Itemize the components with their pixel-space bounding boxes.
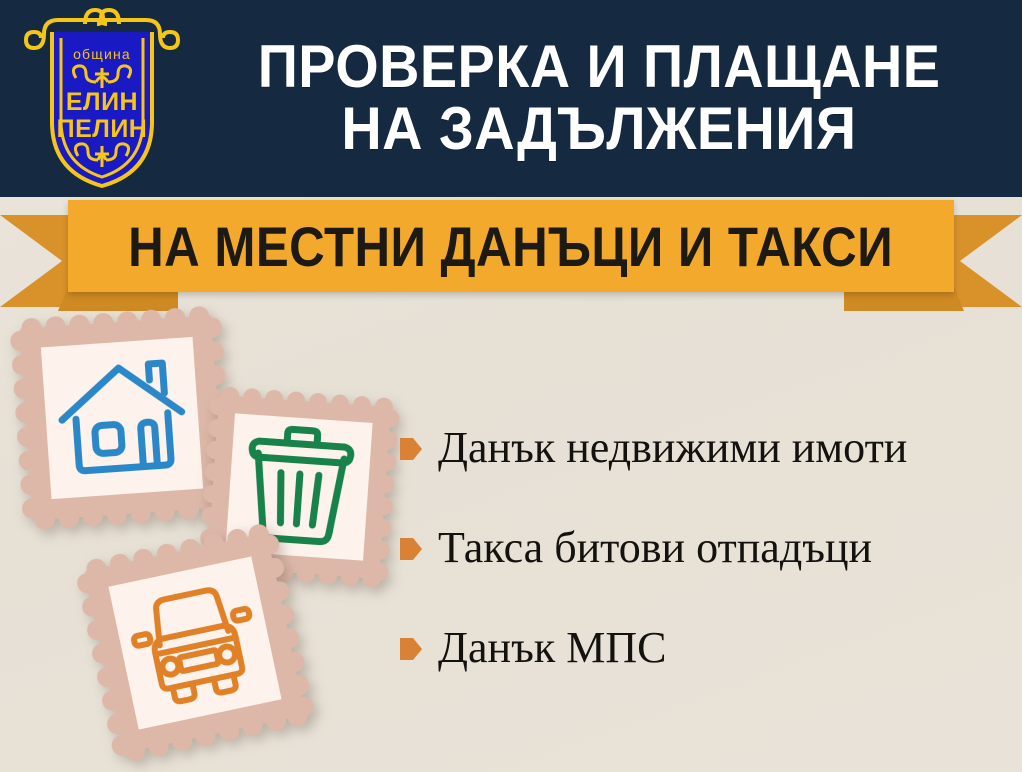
ribbon-center: НА МЕСТНИ ДАНЪЦИ И ТАКСИ <box>68 200 954 292</box>
list-item-label: Данък недвижими имоти <box>438 425 907 471</box>
arrow-bullet-icon <box>400 536 422 562</box>
stamp-house <box>9 305 235 531</box>
stamp-car <box>73 521 317 765</box>
list-item-label: Такса битови отпадъци <box>438 525 872 571</box>
header-band: община ЕЛИН ПЕЛИН <box>0 0 1022 197</box>
list-item[interactable]: Данък МПС <box>400 625 1010 671</box>
poster-title: ПРОВЕРКА И ПЛАЩАНЕ НА ЗАДЪЛЖЕНИЯ <box>186 18 1012 178</box>
title-line-1: ПРОВЕРКА И ПЛАЩАНЕ <box>258 36 941 98</box>
ribbon-label: НА МЕСТНИ ДАНЪЦИ И ТАКСИ <box>129 214 894 279</box>
municipality-crest: община ЕЛИН ПЕЛИН <box>22 4 182 192</box>
list-item-label: Данък МПС <box>438 625 666 671</box>
coat-of-arms-icon: община ЕЛИН ПЕЛИН <box>22 4 182 192</box>
arrow-bullet-icon <box>400 636 422 662</box>
arrow-bullet-icon <box>400 436 422 462</box>
ribbon-banner: НА МЕСТНИ ДАНЪЦИ И ТАКСИ <box>0 197 1022 315</box>
crest-name-line2: ПЕЛИН <box>57 115 148 143</box>
title-line-2: НА ЗАДЪЛЖЕНИЯ <box>341 98 856 160</box>
list-item[interactable]: Данък недвижими имоти <box>400 425 1010 471</box>
tax-type-list: Данък недвижими имоти Такса битови отпад… <box>400 425 1010 726</box>
poster-root: община ЕЛИН ПЕЛИН <box>0 0 1022 772</box>
crest-top-word: община <box>73 46 131 62</box>
list-item[interactable]: Такса битови отпадъци <box>400 525 1010 571</box>
crest-name-line1: ЕЛИН <box>66 88 138 116</box>
